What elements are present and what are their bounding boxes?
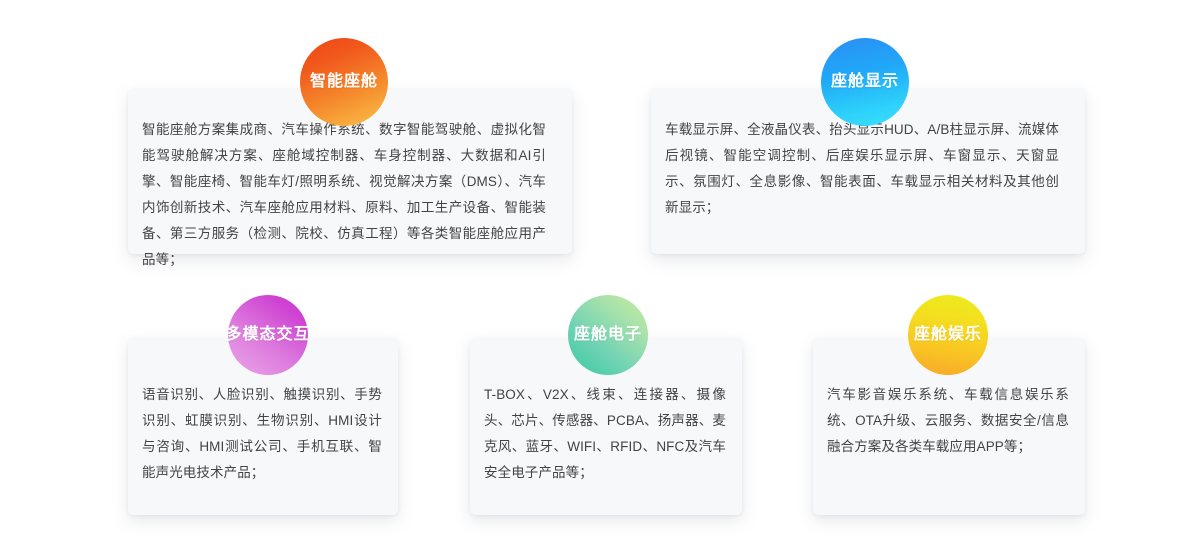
category-badge-label-cockpit-entertainment: 座舱娱乐 [914,327,982,343]
category-description-intelligent-cockpit: 智能座舱方案集成商、汽车操作系统、数字智能驾驶舱、虚拟化智能驾驶舱解决方案、座舱… [128,117,572,273]
category-description-cockpit-electronics: T-BOX、V2X、线束、连接器、摄像头、芯片、传感器、PCBA、扬声器、麦克风… [470,382,742,486]
category-badge-label-cockpit-electronics: 座舱电子 [574,327,642,343]
category-badge-cockpit-entertainment[interactable]: 座舱娱乐 [908,295,988,375]
category-badge-cockpit-electronics[interactable]: 座舱电子 [568,295,648,375]
category-badge-label-multimodal: 多模态交互 [226,327,311,343]
category-cards-stage: 智能座舱方案集成商、汽车操作系统、数字智能驾驶舱、虚拟化智能驾驶舱解决方案、座舱… [0,0,1200,550]
category-description-multimodal: 语音识别、人脸识别、触摸识别、手势识别、虹膜识别、生物识别、HMI设计与咨询、H… [128,382,398,486]
category-description-cockpit-entertainment: 汽车影音娱乐系统、车载信息娱乐系统、OTA升级、云服务、数据安全/信息融合方案及… [813,382,1085,460]
category-badge-multimodal[interactable]: 多模态交互 [228,295,308,375]
category-badge-cockpit-display[interactable]: 座舱显示 [821,38,909,126]
category-badge-label-cockpit-display: 座舱显示 [831,74,899,90]
category-description-cockpit-display: 车载显示屏、全液晶仪表、抬头显示HUD、A/B柱显示屏、流媒体后视镜、智能空调控… [651,117,1085,221]
category-badge-intelligent-cockpit[interactable]: 智能座舱 [300,38,388,126]
category-badge-label-intelligent-cockpit: 智能座舱 [310,74,378,90]
